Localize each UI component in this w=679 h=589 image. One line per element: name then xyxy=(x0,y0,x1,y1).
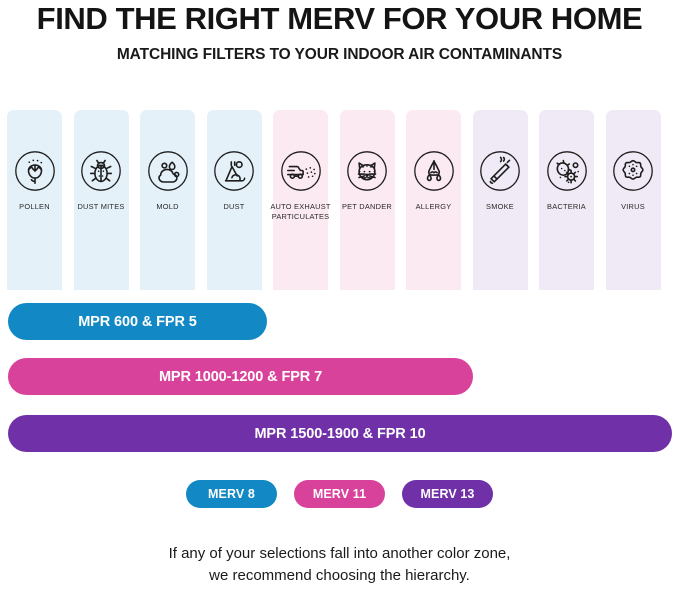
pollen-flower-icon xyxy=(14,150,56,192)
contaminant-columns: POLLENDUST MITESMOLDDUSTAUTO EXHAUST PAR… xyxy=(7,110,673,290)
bar-merv-11-label: MPR 1000-1200 & FPR 7 xyxy=(159,369,322,385)
bacteria-icon xyxy=(546,150,588,192)
contaminant-column-pet-dander[interactable]: PET DANDER xyxy=(340,110,395,290)
contaminant-label: BACTERIA xyxy=(533,202,600,212)
legend-pill-merv-11[interactable]: MERV 11 xyxy=(294,480,385,508)
legend-pill-merv-8[interactable]: MERV 8 xyxy=(186,480,277,508)
mold-spores-icon xyxy=(147,150,189,192)
contaminant-label: ALLERGY xyxy=(400,202,467,212)
bar-merv-13: MPR 1500-1900 & FPR 10 xyxy=(8,415,672,452)
dust-mite-bug-icon xyxy=(80,150,122,192)
contaminant-label: PET DANDER xyxy=(334,202,401,212)
page-title: FIND THE RIGHT MERV FOR YOUR HOME xyxy=(0,0,679,38)
footnote-text: If any of your selections fall into anot… xyxy=(0,543,679,587)
bar-merv-8-label: MPR 600 & FPR 5 xyxy=(78,314,197,330)
contaminant-column-smoke[interactable]: SMOKE xyxy=(473,110,528,290)
contaminant-column-virus[interactable]: VIRUS xyxy=(606,110,661,290)
legend-pill-merv-8-label: MERV 8 xyxy=(208,487,255,501)
contaminant-column-auto-exhaust-particulates[interactable]: AUTO EXHAUST PARTICULATES xyxy=(273,110,328,290)
contaminant-column-pollen[interactable]: POLLEN xyxy=(7,110,62,290)
contaminant-label: VIRUS xyxy=(600,202,667,212)
cigarette-smoke-icon xyxy=(479,150,521,192)
contaminant-label: MOLD xyxy=(134,202,201,212)
legend-pill-merv-13-label: MERV 13 xyxy=(421,487,475,501)
contaminant-label: DUST xyxy=(201,202,268,212)
dust-cloud-icon xyxy=(213,150,255,192)
contaminant-label: DUST MITES xyxy=(68,202,135,212)
cat-face-icon xyxy=(346,150,388,192)
legend-pill-merv-13[interactable]: MERV 13 xyxy=(402,480,493,508)
contaminant-column-allergy[interactable]: ALLERGY xyxy=(406,110,461,290)
contaminant-label: POLLEN xyxy=(1,202,68,212)
merv-legend: MERV 8 MERV 11 MERV 13 xyxy=(0,480,679,508)
contaminant-column-dust-mites[interactable]: DUST MITES xyxy=(74,110,129,290)
bar-merv-8: MPR 600 & FPR 5 xyxy=(8,303,267,340)
nose-icon xyxy=(413,150,455,192)
page-subtitle: MATCHING FILTERS TO YOUR INDOOR AIR CONT… xyxy=(0,46,679,64)
contaminant-label: AUTO EXHAUST PARTICULATES xyxy=(267,202,334,221)
contaminant-column-bacteria[interactable]: BACTERIA xyxy=(539,110,594,290)
bar-merv-11: MPR 1000-1200 & FPR 7 xyxy=(8,358,473,395)
virus-icon xyxy=(612,150,654,192)
bar-merv-13-label: MPR 1500-1900 & FPR 10 xyxy=(254,426,425,442)
contaminant-column-mold[interactable]: MOLD xyxy=(140,110,195,290)
contaminant-column-dust[interactable]: DUST xyxy=(207,110,262,290)
legend-pill-merv-11-label: MERV 11 xyxy=(313,487,366,501)
infographic-root: FIND THE RIGHT MERV FOR YOUR HOME MATCHI… xyxy=(0,0,679,589)
contaminant-label: SMOKE xyxy=(467,202,534,212)
car-exhaust-icon xyxy=(280,150,322,192)
